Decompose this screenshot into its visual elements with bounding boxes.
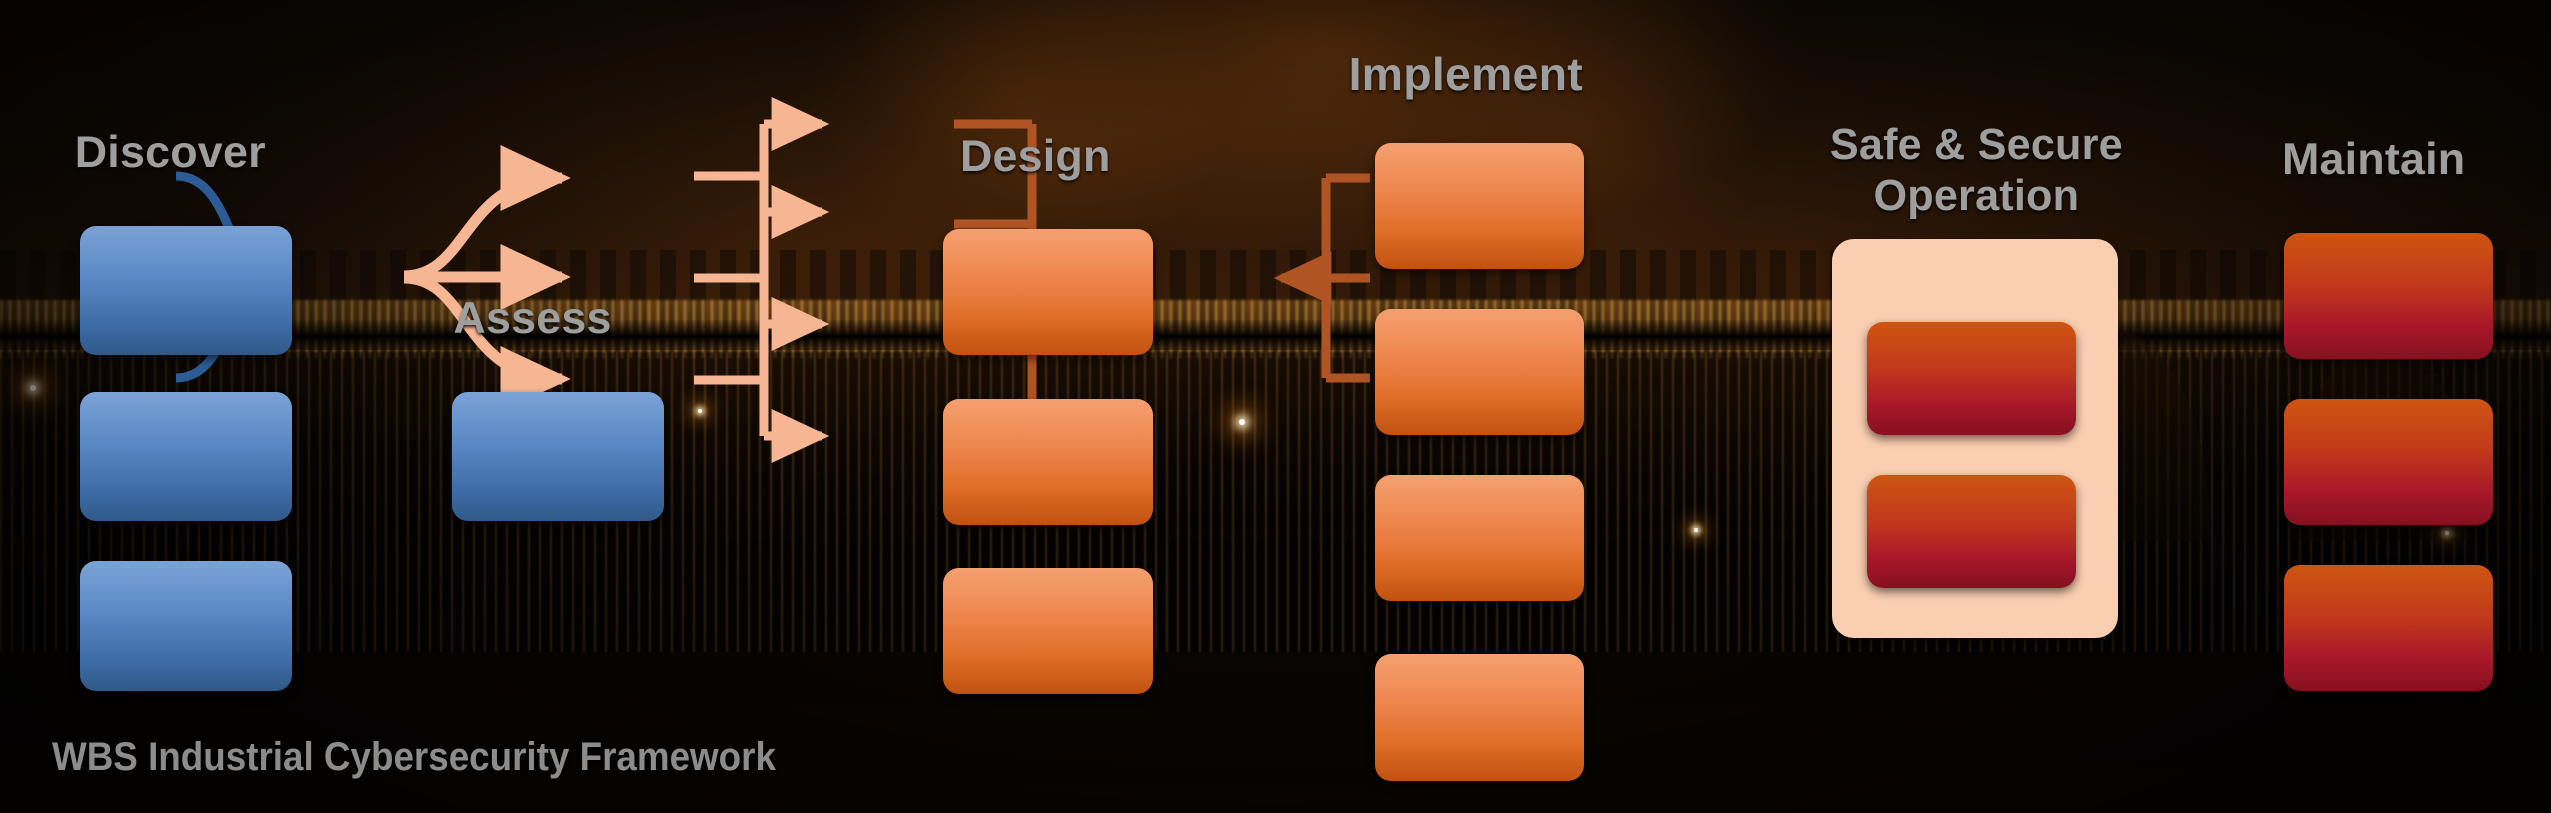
maintain-node-2[interactable]	[2284, 399, 2493, 525]
maintain-node-1[interactable]	[2284, 233, 2493, 359]
operation-node-1[interactable]	[1867, 322, 2076, 435]
implement-node-4[interactable]	[1375, 654, 1584, 780]
document-title: WBS Industrial Cybersecurity Framework	[52, 735, 776, 780]
connector-assess-to-design	[404, 178, 562, 379]
discover-node-2[interactable]	[80, 392, 293, 522]
stage-label-operation-line2: Operation	[1787, 171, 2166, 222]
design-node-2[interactable]	[943, 399, 1152, 525]
discover-node-1[interactable]	[80, 226, 293, 356]
assess-node-1[interactable]	[452, 392, 665, 522]
connector-design-to-implement	[694, 124, 822, 436]
stage-label-operation: Safe & Secure Operation	[1787, 120, 2166, 222]
connector-operation-maintain-loop	[1281, 178, 1370, 378]
stage-label-assess: Assess	[453, 292, 611, 344]
implement-node-2[interactable]	[1375, 309, 1584, 435]
stage-label-operation-line1: Safe & Secure	[1787, 120, 2166, 171]
design-node-3[interactable]	[943, 568, 1152, 694]
framework-diagram-canvas: Discover Assess Design Implement Safe & …	[0, 0, 2551, 813]
discover-node-3[interactable]	[80, 561, 293, 691]
operation-node-2[interactable]	[1867, 475, 2076, 588]
stage-label-discover: Discover	[75, 126, 266, 178]
implement-node-1[interactable]	[1375, 143, 1584, 269]
stage-label-design: Design	[960, 130, 1111, 182]
implement-node-3[interactable]	[1375, 475, 1584, 601]
stage-label-maintain: Maintain	[2282, 133, 2465, 185]
design-node-1[interactable]	[943, 229, 1152, 355]
stage-label-implement: Implement	[1349, 47, 1583, 101]
connector-layer	[0, 0, 2551, 813]
maintain-node-3[interactable]	[2284, 565, 2493, 691]
